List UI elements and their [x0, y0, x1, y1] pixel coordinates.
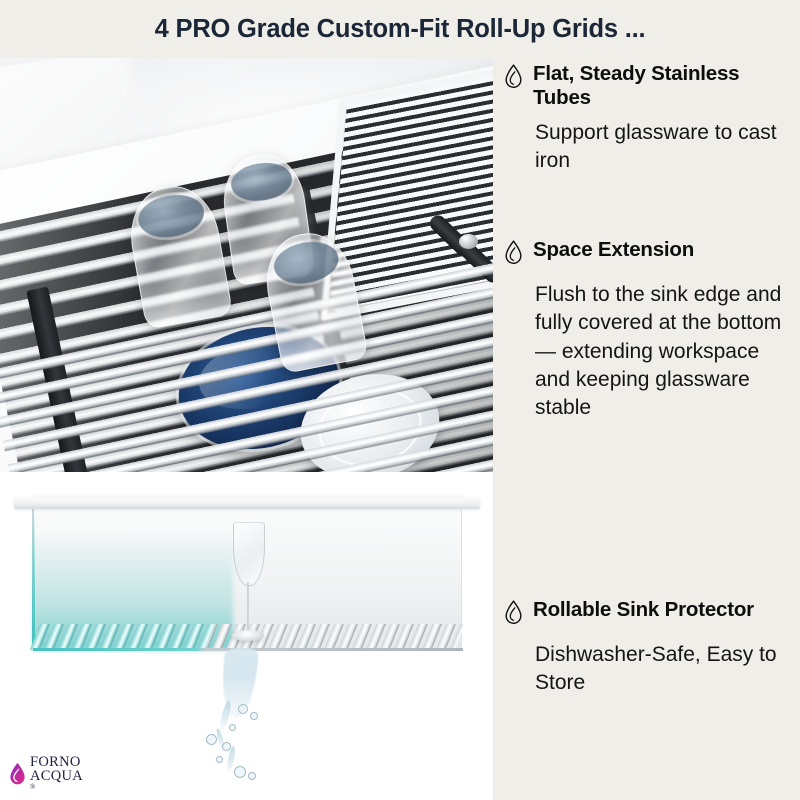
product-infographic: 4 PRO Grade Custom-Fit Roll-Up Grids ...: [0, 0, 800, 800]
registered-mark: ®: [30, 784, 83, 791]
water-droplet-shape: [250, 712, 258, 720]
water-droplet-icon: [503, 600, 524, 625]
water-droplet-shape: [216, 756, 223, 763]
feature-body: Flush to the sink edge and fully covered…: [535, 281, 793, 423]
wine-glass-stem: [247, 582, 250, 634]
bottom-roll-up-grid-teal-section: [30, 624, 216, 650]
water-droplet-shape: [248, 772, 256, 780]
water-droplet-icon: [503, 240, 524, 265]
features-column: Flat, Steady Stainless Tubes Support gla…: [493, 58, 800, 800]
brand-logo: FORNO ACQUA®: [8, 756, 83, 791]
glass-base: [229, 159, 294, 204]
feature-block-2: Space Extension Flush to the sink edge a…: [503, 238, 793, 423]
feature-block-1: Flat, Steady Stainless Tubes Support gla…: [503, 62, 793, 175]
feature-heading-row: Rollable Sink Protector: [503, 598, 793, 625]
feature-body: Dishwasher-Safe, Easy to Store: [535, 641, 793, 698]
grid-foot-knob: [459, 234, 478, 249]
water-droplet-shape: [234, 766, 246, 778]
feature-heading-row: Flat, Steady Stainless Tubes: [503, 62, 793, 110]
page-title: 4 PRO Grade Custom-Fit Roll-Up Grids ...: [155, 15, 646, 44]
water-droplet-shape: [238, 704, 248, 714]
logo-droplet-icon: [8, 762, 27, 786]
water-droplet-shape: [206, 734, 217, 745]
feature-body: Support glassware to cast iron: [535, 119, 793, 176]
glass-base: [135, 190, 206, 241]
feature-heading-row: Space Extension: [503, 238, 793, 265]
feature-title: Flat, Steady Stainless Tubes: [533, 62, 793, 110]
glass-base: [271, 237, 342, 288]
logo-wordmark: FORNO ACQUA®: [30, 756, 83, 791]
wine-glass: [228, 522, 268, 652]
image-column: FORNO ACQUA®: [0, 58, 493, 800]
sink-left-edge-highlight: [32, 508, 35, 650]
water-splash: [198, 698, 276, 780]
water-droplet-icon: [503, 64, 524, 89]
feature-title: Space Extension: [533, 238, 694, 262]
product-photo-sink-cross-section: [0, 472, 493, 800]
water-droplet-shape: [229, 724, 236, 731]
feature-block-3: Rollable Sink Protector Dishwasher-Safe,…: [503, 598, 793, 698]
product-photo-grid-with-glassware: [0, 58, 493, 472]
feature-title: Rollable Sink Protector: [533, 598, 754, 622]
wine-glass-bowl: [233, 522, 265, 586]
logo-line-2: ACQUA®: [30, 770, 83, 791]
sink-top-flange: [14, 497, 480, 509]
wine-glass-foot: [232, 630, 264, 641]
header: 4 PRO Grade Custom-Fit Roll-Up Grids ...: [0, 0, 800, 58]
